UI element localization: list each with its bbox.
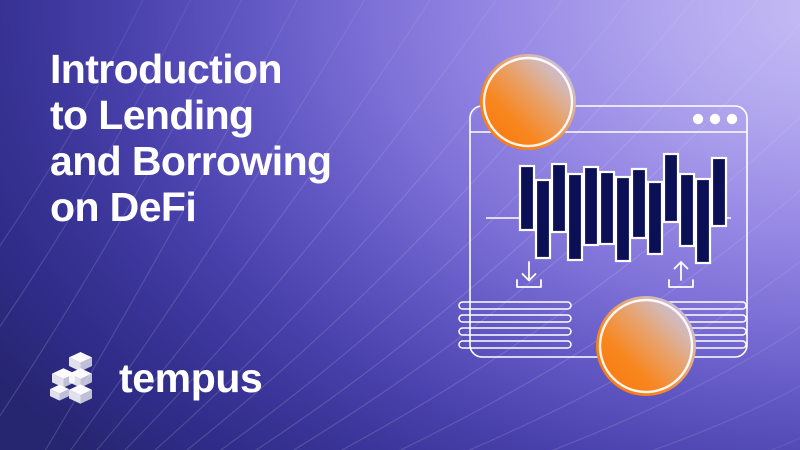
token-circle-bottom bbox=[596, 296, 696, 396]
chart-bar bbox=[712, 158, 726, 226]
text-lines-left bbox=[459, 302, 571, 348]
token-circle-top bbox=[480, 54, 576, 150]
download-icon bbox=[517, 262, 541, 287]
brand-name: tempus bbox=[119, 358, 262, 399]
tempus-logomark-icon bbox=[50, 351, 100, 405]
chart-bar bbox=[568, 174, 582, 260]
chart-bar bbox=[664, 154, 678, 222]
text-line bbox=[459, 328, 571, 335]
text-line bbox=[459, 302, 571, 309]
text-line bbox=[459, 315, 571, 322]
chart-bar bbox=[632, 169, 646, 238]
upload-icon bbox=[669, 262, 693, 287]
chart-bar bbox=[680, 174, 694, 246]
window-control-dot bbox=[693, 114, 703, 124]
window-control-dot bbox=[727, 114, 737, 124]
window-controls bbox=[693, 114, 737, 124]
text-line bbox=[459, 341, 571, 348]
browser-window-illustration bbox=[448, 40, 778, 385]
page-title: Introduction to Lending and Borrowing on… bbox=[50, 47, 440, 231]
chart-bar bbox=[536, 180, 550, 258]
window-control-dot bbox=[710, 114, 720, 124]
slide-canvas: Introduction to Lending and Borrowing on… bbox=[0, 0, 800, 450]
hero-illustration bbox=[448, 40, 778, 385]
candlestick-bars bbox=[520, 154, 726, 263]
brand-logo: tempus bbox=[50, 351, 262, 405]
chart-bar bbox=[584, 167, 598, 245]
chart-bar bbox=[648, 182, 662, 254]
chart-bar bbox=[552, 164, 566, 232]
chart-bar bbox=[696, 179, 710, 263]
chart-bar bbox=[616, 177, 630, 261]
chart-bar bbox=[600, 172, 614, 244]
chart-bar bbox=[520, 166, 534, 230]
